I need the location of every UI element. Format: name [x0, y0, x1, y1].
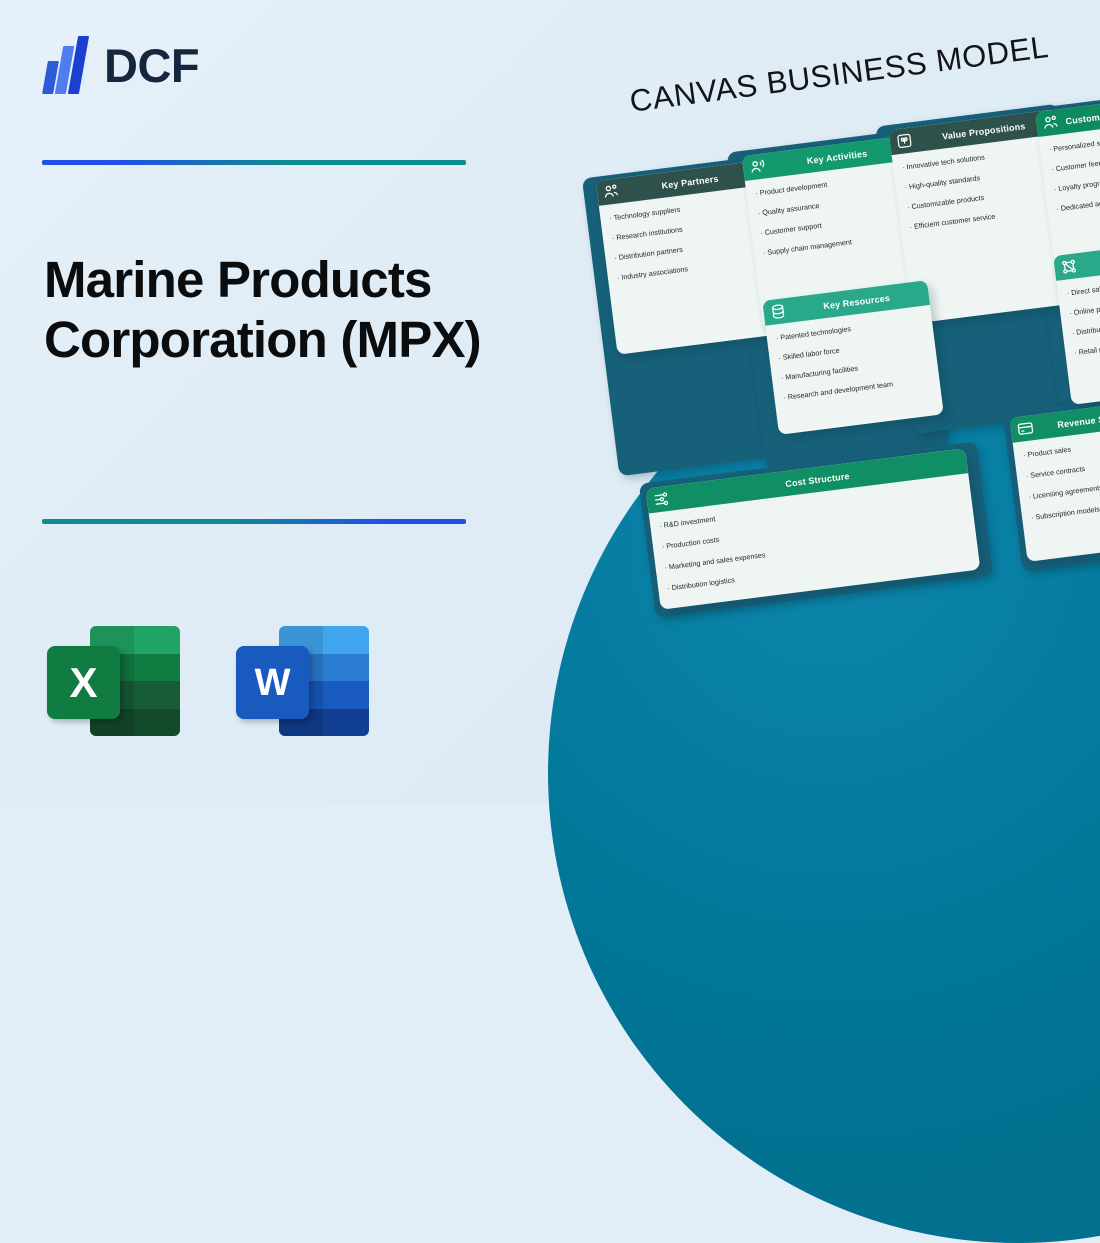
brand-logo[interactable]: DCF	[44, 36, 199, 94]
card-body: Product sales Service contracts Licensin…	[1013, 424, 1100, 543]
list-item: Dedicated account managers	[1056, 191, 1100, 213]
list-item: Distributors	[1071, 315, 1100, 337]
people-group-icon	[1042, 113, 1061, 132]
gift-box-icon	[895, 131, 914, 150]
list-item: Personalized support	[1048, 132, 1100, 154]
sliders-icon	[652, 490, 671, 509]
list-item: Retail partners	[1074, 335, 1100, 357]
people-group-icon	[602, 182, 621, 201]
list-item: Online platform	[1069, 296, 1100, 318]
divider-top	[42, 160, 466, 165]
word-file-icon[interactable]: W	[236, 626, 369, 736]
list-item: Licensing agreements	[1028, 476, 1100, 502]
network-nodes-icon	[1060, 257, 1079, 276]
download-format-icons: X W	[47, 626, 369, 736]
word-file-glyph: W	[236, 646, 309, 719]
list-item: Direct sales	[1066, 276, 1100, 298]
excel-file-glyph: X	[47, 646, 120, 719]
list-item: Subscription models	[1031, 496, 1100, 522]
brand-logo-text: DCF	[104, 42, 199, 89]
bar-chart-logo-icon	[44, 36, 90, 94]
excel-file-icon[interactable]: X	[47, 626, 180, 736]
page-title: Marine Products Corporation (MPX)	[44, 250, 504, 369]
left-info-panel: DCF Marine Products Corporation (MPX) X	[0, 0, 540, 805]
canvas-block-key-resources[interactable]: Key Resources Patented technologies Skil…	[762, 280, 944, 435]
divider-bottom	[42, 519, 466, 524]
card-title: Channels	[1083, 250, 1100, 270]
card-body: Personalized support Customer feedback L…	[1038, 122, 1100, 222]
database-icon	[769, 302, 788, 321]
credit-card-icon	[1016, 419, 1035, 438]
list-item: Service contracts	[1025, 455, 1100, 481]
person-broadcast-icon	[748, 157, 767, 176]
list-item: Customer feedback	[1051, 152, 1100, 174]
list-item: Loyalty programs	[1053, 172, 1100, 194]
